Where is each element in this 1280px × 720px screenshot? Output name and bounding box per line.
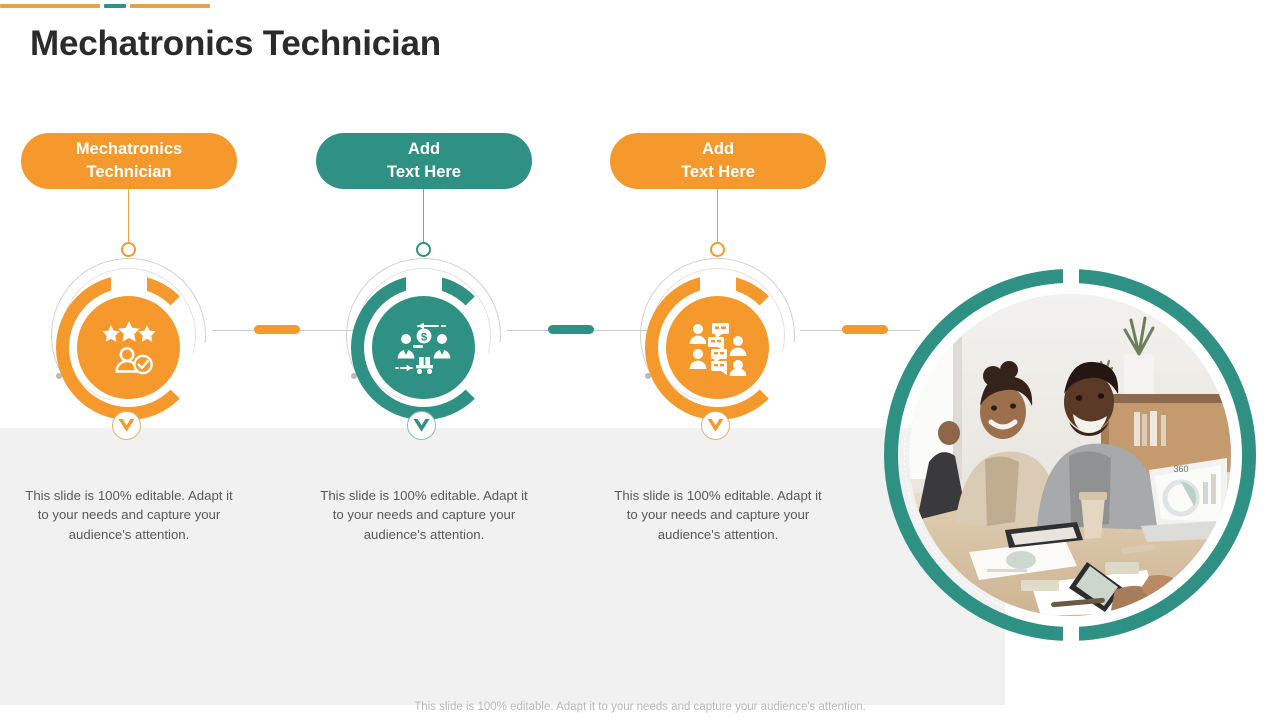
- photo-ring-notch-top: [1063, 268, 1079, 286]
- pill-line-1: Add: [408, 138, 440, 161]
- icon-disc-1[interactable]: [77, 296, 180, 399]
- step-label-pill-2[interactable]: Add Text Here: [316, 133, 532, 189]
- stem-line-1: [128, 189, 129, 243]
- chevron-down-icon: [413, 418, 430, 433]
- pill-line-2: Technician: [87, 161, 172, 184]
- step-column-2: Add Text Here $: [276, 0, 570, 720]
- step-column-3: Add Text Here: [570, 0, 864, 720]
- svg-text:360: 360: [1173, 464, 1188, 474]
- stem-line-3: [717, 189, 718, 243]
- chevron-down-badge-2[interactable]: [407, 411, 436, 440]
- photo-ring-notch-bottom: [1063, 624, 1079, 642]
- svg-text:$: $: [420, 331, 426, 343]
- rating-person-verified-icon: [98, 321, 160, 375]
- pill-line-2: Text Here: [387, 161, 461, 184]
- chevron-down-icon: [118, 418, 135, 433]
- pill-line-1: Mechatronics: [76, 138, 182, 161]
- stem-ring-3: [710, 242, 725, 257]
- progress-ring-gap-1: [111, 275, 147, 291]
- business-meeting-photo: 360: [909, 294, 1231, 616]
- team-discussion-icon: [686, 320, 750, 376]
- icon-disc-2[interactable]: $: [372, 296, 475, 399]
- stem-ring-1: [121, 242, 136, 257]
- chevron-down-badge-1[interactable]: [112, 411, 141, 440]
- chevron-down-badge-3[interactable]: [701, 411, 730, 440]
- step-label-pill-1[interactable]: Mechatronics Technician: [21, 133, 237, 189]
- chevron-down-icon: [707, 418, 724, 433]
- stem-ring-2: [416, 242, 431, 257]
- pill-line-1: Add: [702, 138, 734, 161]
- step-body-3: This slide is 100% editable. Adapt it to…: [609, 486, 827, 544]
- step-body-1: This slide is 100% editable. Adapt it to…: [20, 486, 238, 544]
- pill-line-2: Text Here: [681, 161, 755, 184]
- step-body-2: This slide is 100% editable. Adapt it to…: [315, 486, 533, 544]
- money-transaction-delivery-icon: $: [392, 320, 456, 376]
- stem-line-2: [423, 189, 424, 243]
- step-column-1: Mechatronics Technician This slide is 10…: [0, 0, 275, 720]
- progress-ring-gap-2: [406, 275, 442, 291]
- progress-ring-gap-3: [700, 275, 736, 291]
- icon-disc-3[interactable]: [666, 296, 769, 399]
- step-label-pill-3[interactable]: Add Text Here: [610, 133, 826, 189]
- photo-medallion: 360: [884, 269, 1256, 641]
- footer-note: This slide is 100% editable. Adapt it to…: [0, 701, 1280, 713]
